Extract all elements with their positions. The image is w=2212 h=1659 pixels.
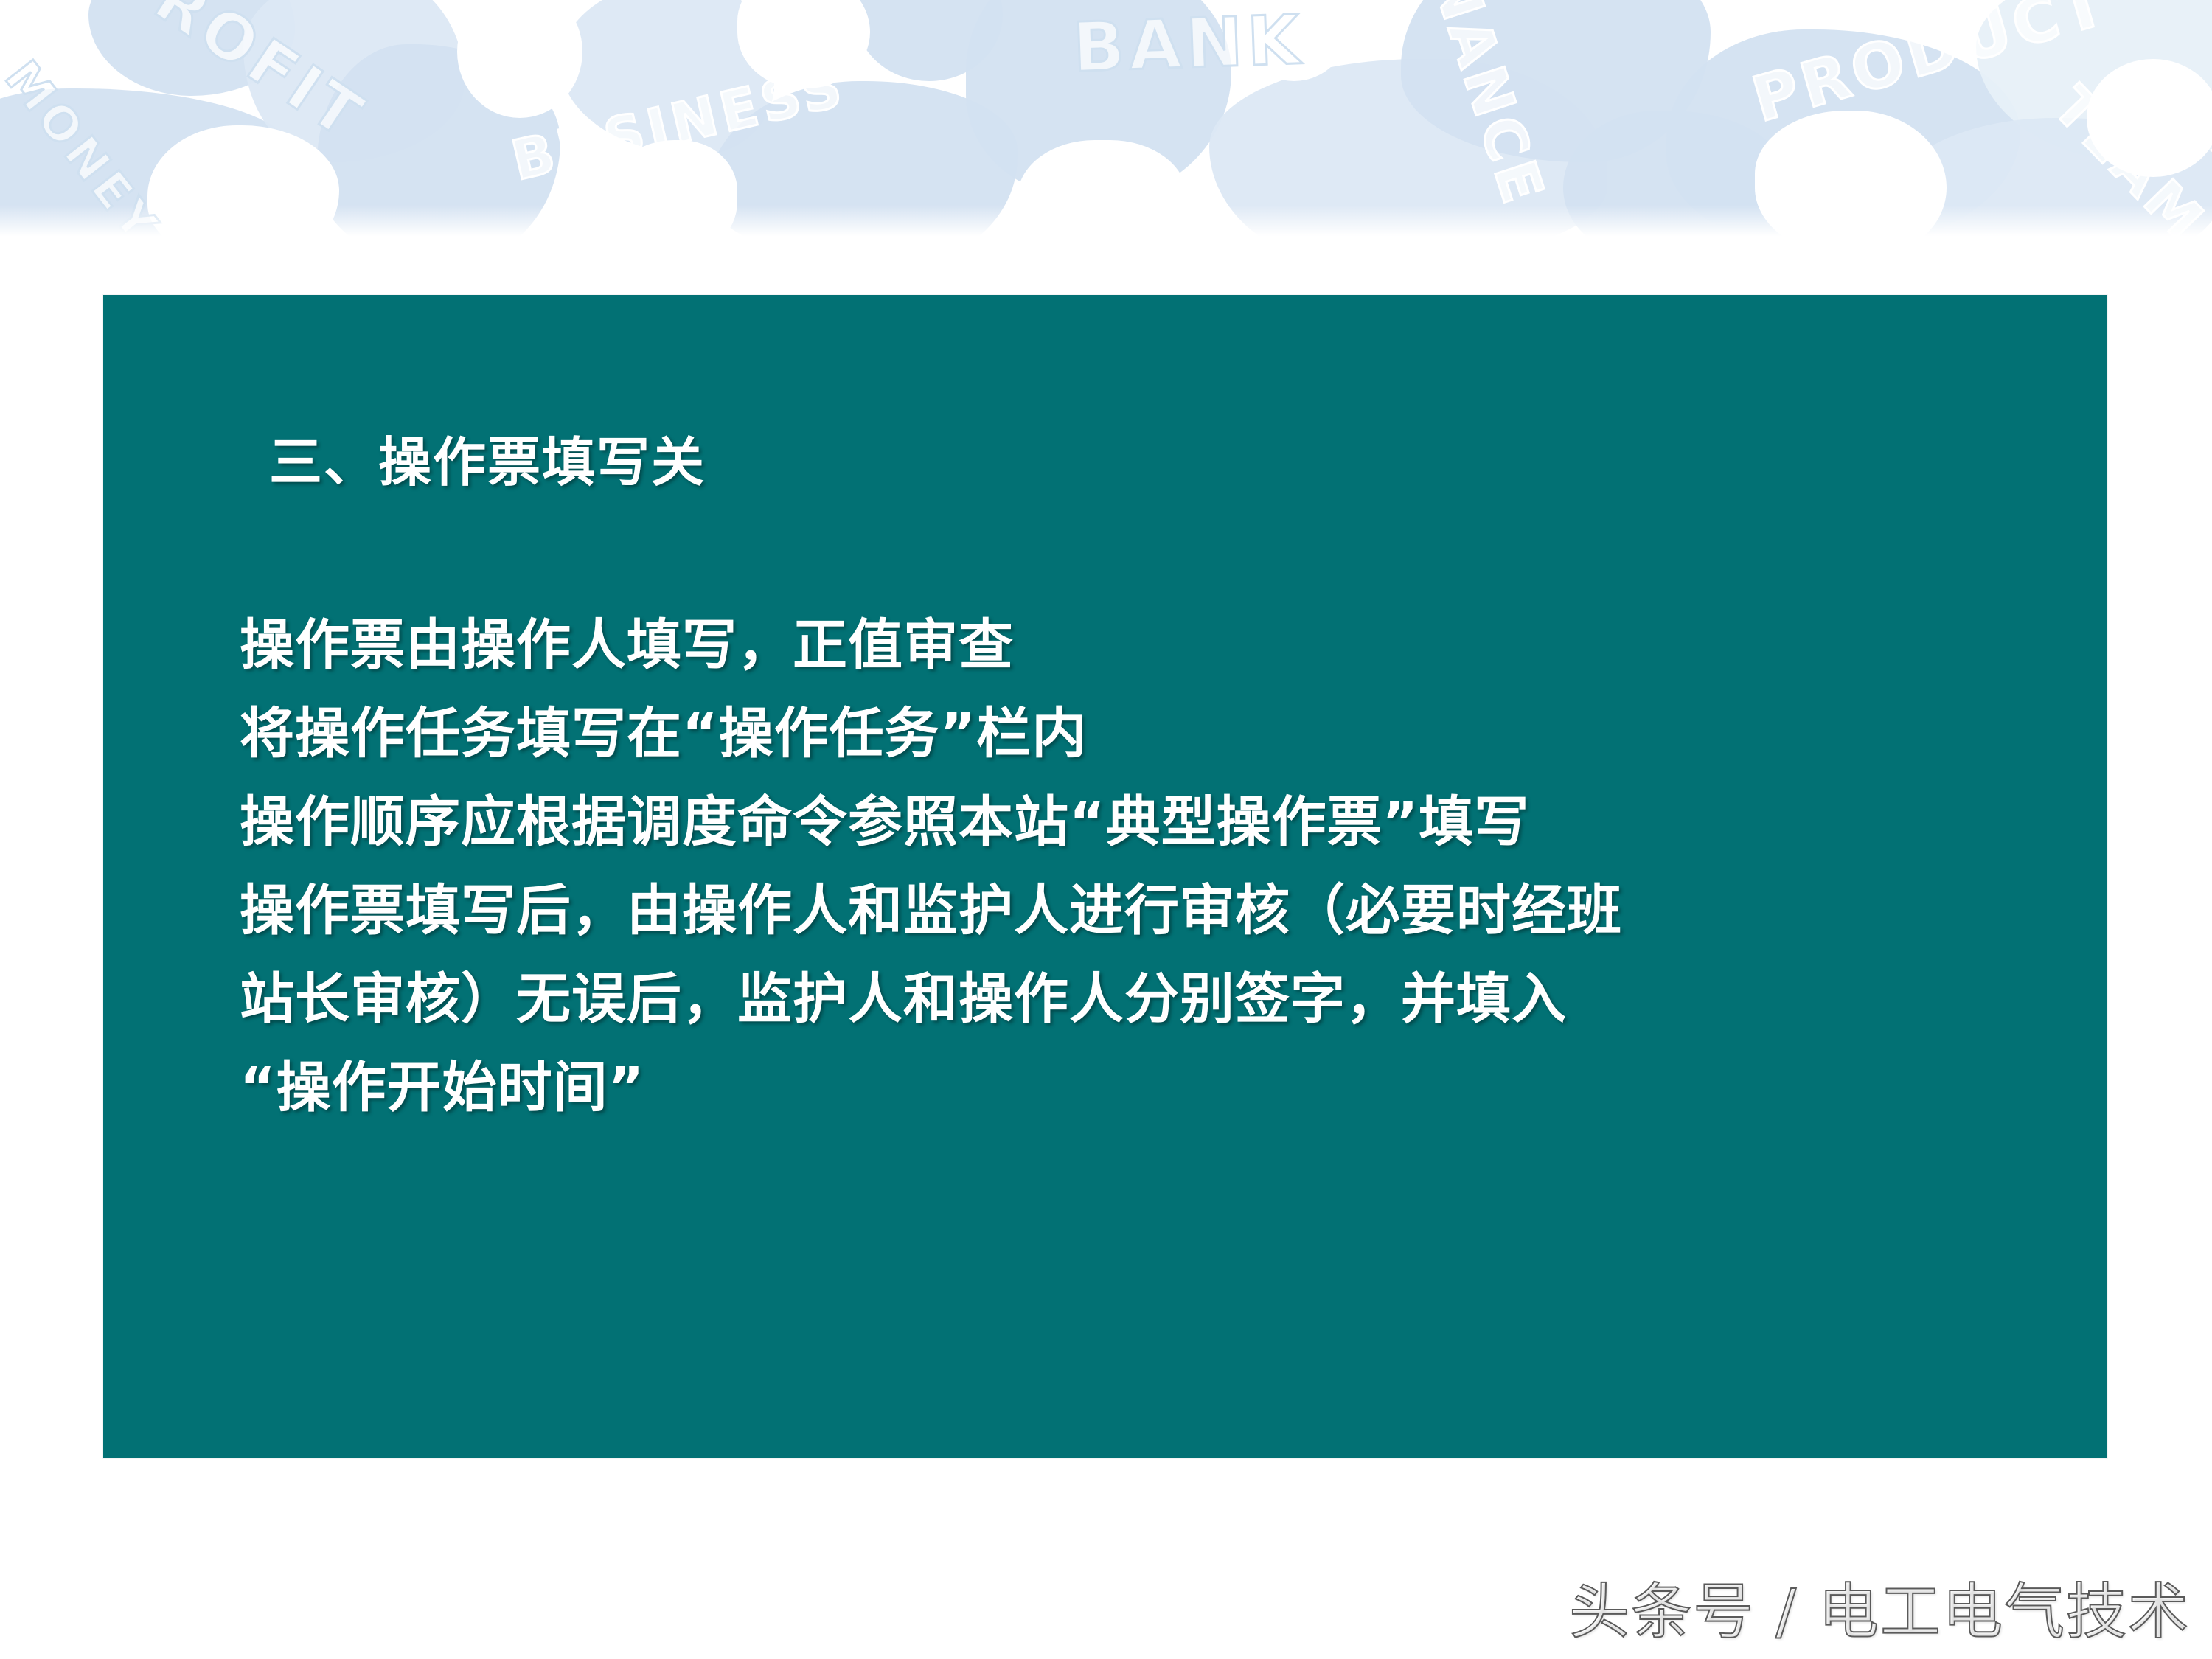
body-line: “操作开始时间”	[240, 1043, 2068, 1132]
body-line: 操作票填写后，由操作人和监护人进行审核（必要时经班	[240, 866, 2068, 955]
section-title: 三、操作票填写关	[269, 419, 706, 496]
body-line: 操作顺序应根据调度命令参照本站“典型操作票”填写	[240, 778, 2068, 866]
wordart-bank: BANK	[1071, 1, 1305, 88]
decorative-header-band: PROFIT MONEY BUSINESS BANK FINANCE PRODU…	[0, 0, 2212, 239]
body-line: 将操作任务填写在“操作任务”栏内	[240, 689, 2068, 778]
content-panel: 三、操作票填写关 操作票由操作人填写，正值审查 将操作任务填写在“操作任务”栏内…	[103, 295, 2107, 1458]
body-line: 站长审核）无误后，监护人和操作人分别签字，并填入	[240, 955, 2068, 1043]
band-fade-overlay	[0, 205, 2212, 239]
body-line: 操作票由操作人填写，正值审查	[240, 601, 2068, 689]
watermark-text: 头条号 / 电工电气技术	[1569, 1562, 2190, 1650]
body-text-block: 操作票由操作人填写，正值审查 将操作任务填写在“操作任务”栏内 操作顺序应根据调…	[240, 601, 2068, 1132]
